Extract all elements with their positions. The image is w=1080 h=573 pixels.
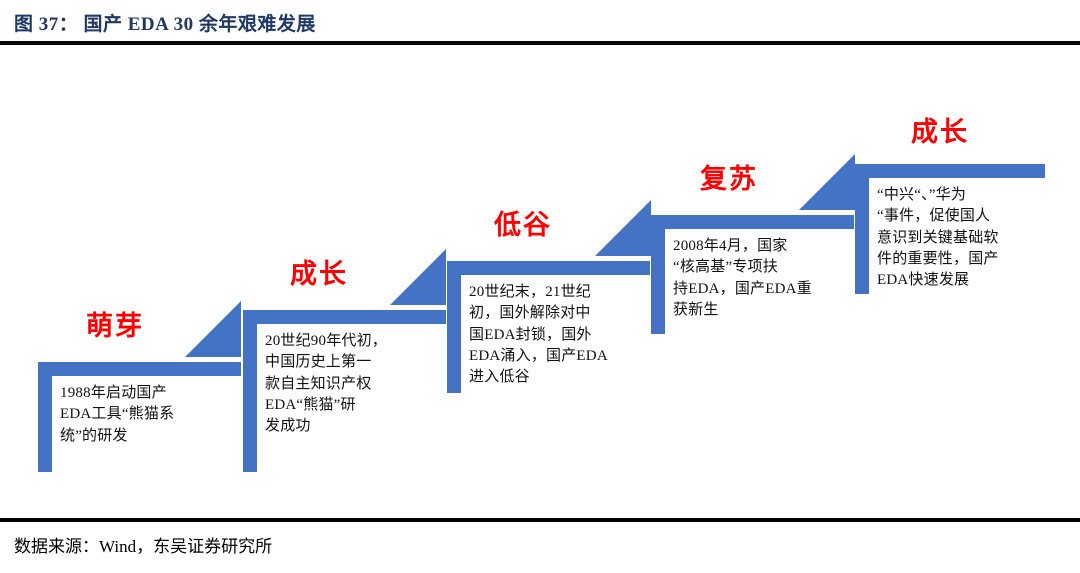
figure-header: 图 37： 国产 EDA 30 余年艰难发展 — [0, 0, 1080, 46]
stage-5-bar-horizontal — [855, 164, 1045, 178]
stage-2-bar-vertical — [243, 310, 257, 472]
stage-3-bar-vertical — [447, 261, 461, 393]
stage-4-bar-vertical — [651, 215, 665, 334]
page-title: 图 37： 国产 EDA 30 余年艰难发展 — [14, 9, 316, 36]
stage-1-bar-vertical — [38, 362, 52, 472]
stage-4-description: 2008年4月，国家 “核高基”专项扶 持EDA，国产EDA重 获新生 — [673, 236, 858, 321]
stage-2-bar-horizontal — [243, 310, 446, 324]
stage-2-arrow-triangle-icon — [390, 249, 446, 305]
stage-5-description: “中兴“、”华为 “事件，促使国人 意识到关键基础软 件的重要性，国产 EDA快… — [877, 185, 1057, 291]
stage-3-label: 低谷 — [494, 203, 552, 242]
stage-5-label: 成长 — [911, 110, 969, 149]
stage-2-label: 成长 — [290, 252, 348, 291]
header-divider — [0, 41, 1080, 45]
stage-5-bar-vertical — [855, 164, 869, 294]
source-note: 数据来源：Wind，东吴证券研究所 — [14, 532, 272, 557]
stage-1-description: 1988年启动国产 EDA工具“熊猫系 统”的研发 — [60, 383, 240, 447]
stage-4-bar-horizontal — [651, 215, 854, 229]
stage-1-label: 萌芽 — [86, 304, 144, 343]
stage-3-bar-horizontal — [447, 261, 650, 275]
stage-1-arrow-triangle-icon — [185, 301, 241, 357]
staircase-diagram: 萌芽 1988年启动国产 EDA工具“熊猫系 统”的研发 成长 20世纪90年代… — [0, 46, 1080, 518]
stage-4-label: 复苏 — [700, 157, 758, 196]
stage-2-description: 20世纪90年代初， 中国历史上第一 款自主知识产权 EDA“熊猫”研 发成功 — [265, 331, 450, 437]
stage-4-arrow-triangle-icon — [799, 154, 855, 210]
stage-1-bar-horizontal — [38, 362, 241, 376]
footer-divider — [0, 518, 1080, 522]
stage-3-arrow-triangle-icon — [595, 200, 651, 256]
stage-3-description: 20世纪末，21世纪 初，国外解除对中 国EDA封锁，国外 EDA涌入，国产ED… — [469, 282, 659, 388]
